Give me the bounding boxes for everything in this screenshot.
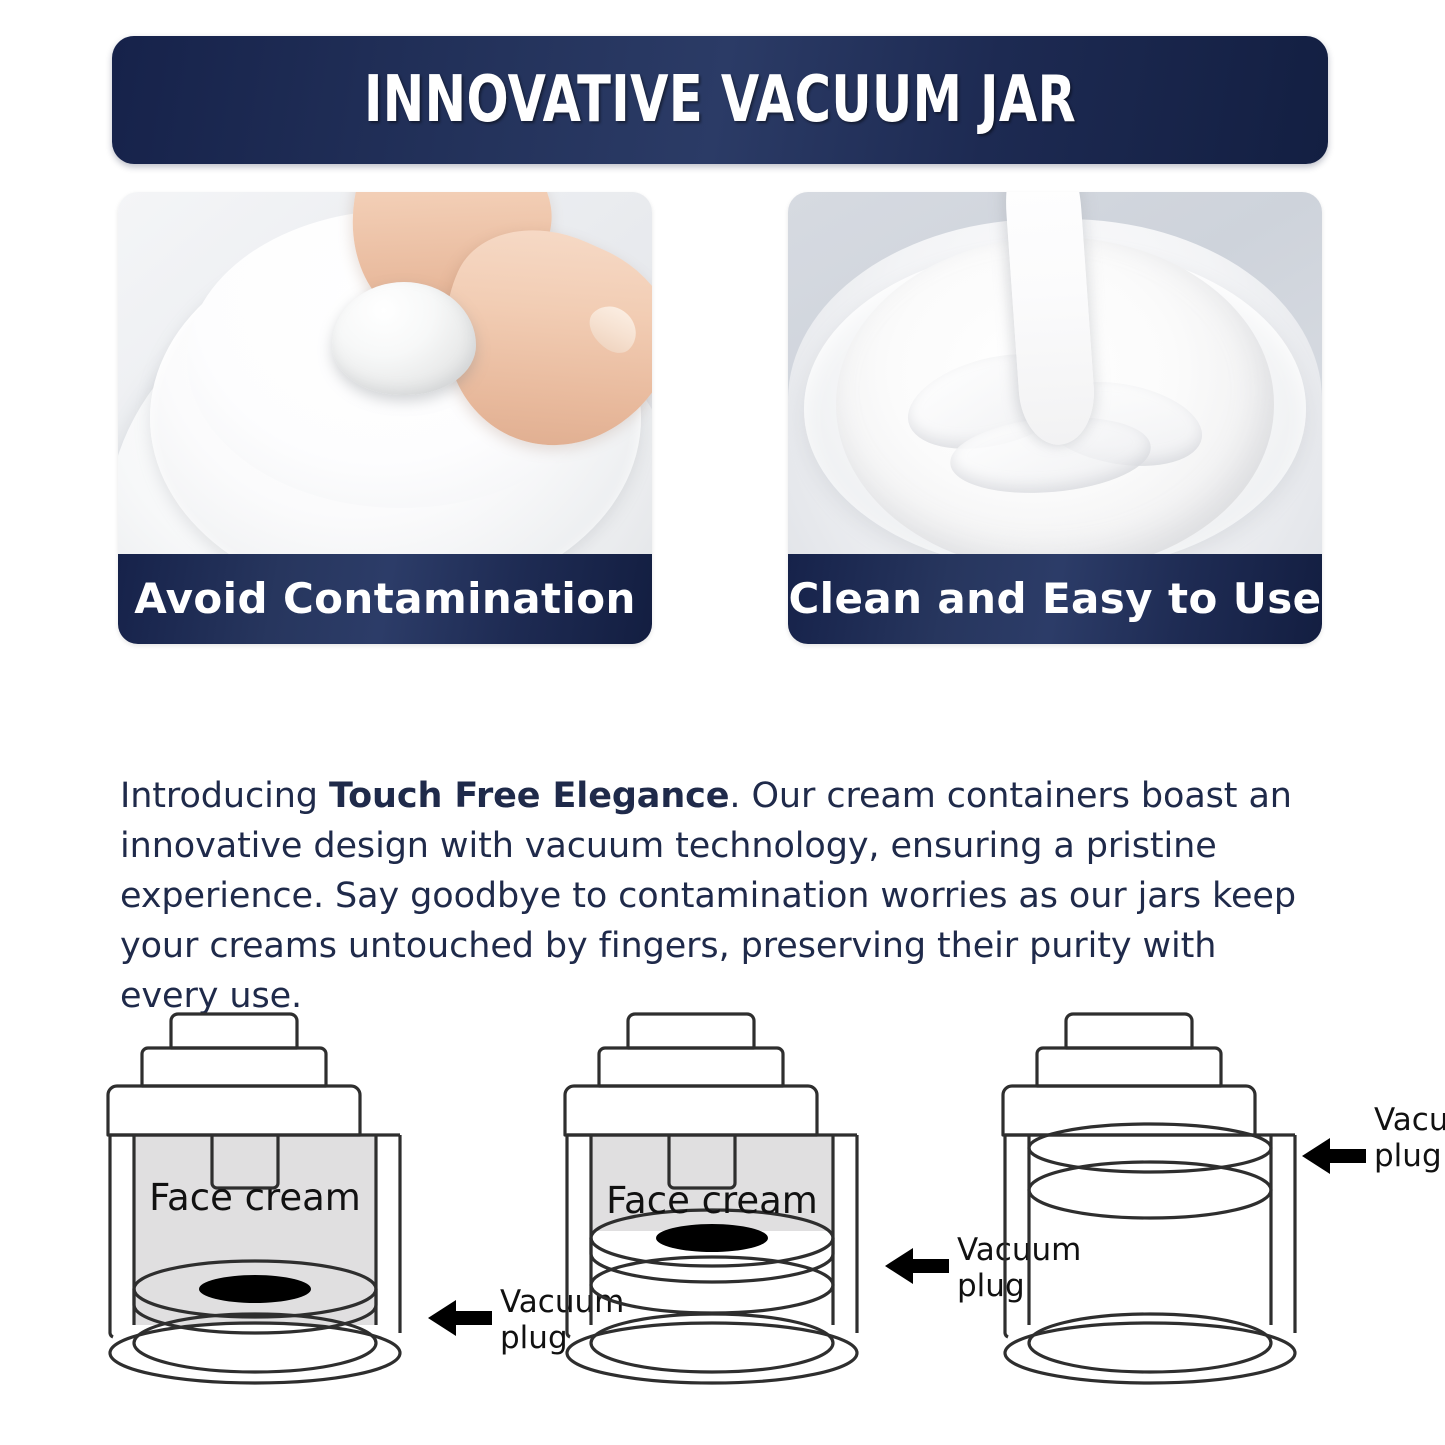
- cream-label-2: Face cream: [606, 1179, 818, 1222]
- jar-lid-body-1: [108, 1086, 360, 1135]
- feature-panels: Avoid Contamination Clean and Easy to Us…: [118, 192, 1322, 644]
- caption-bar-avoid-contamination: Avoid Contamination: [118, 554, 652, 644]
- caption-label: Clean and Easy to Use: [788, 578, 1321, 620]
- cream-label-1: Face cream: [149, 1176, 361, 1219]
- plug-label-line1-1: Vacuum: [500, 1284, 624, 1320]
- panel-clean-and-easy: Clean and Easy to Use: [788, 192, 1322, 644]
- jar-cap-mid-3: [1037, 1048, 1221, 1086]
- paragraph-lead-in: Introducing: [120, 776, 329, 816]
- diagram-jar-full: Face cream Vacuum plug: [108, 1014, 624, 1383]
- vacuum-plug-center-2: [656, 1224, 768, 1252]
- infographic-page: INNOVATIVE VACUUM JAR Avoid Contaminatio…: [0, 0, 1445, 1445]
- jar-base-outer-2: [567, 1323, 857, 1383]
- plug-arrow-icon-1: [428, 1300, 492, 1336]
- fingernail-lower-icon: [582, 297, 645, 361]
- plug-label-line2-3: plug: [1374, 1138, 1442, 1174]
- vacuum-plug-center-1: [199, 1275, 311, 1303]
- diagram-jar-empty: Vacuum plug: [1003, 1014, 1445, 1383]
- plug-label-line1-2: Vacuum: [957, 1232, 1081, 1268]
- jar-cap-mid-2: [599, 1048, 783, 1086]
- caption-label: Avoid Contamination: [134, 578, 636, 620]
- header-banner: INNOVATIVE VACUUM JAR: [112, 36, 1328, 164]
- plug-label-line2-1: plug: [500, 1320, 568, 1356]
- jar-base-outer-3: [1005, 1323, 1295, 1383]
- cream-dollop-shape: [332, 282, 476, 395]
- jar-cap-mid-1: [142, 1048, 326, 1086]
- plug-label-line1-3: Vacuum: [1374, 1102, 1445, 1138]
- panel-avoid-contamination: Avoid Contamination: [118, 192, 652, 644]
- jar-wall-left-1: [110, 1135, 113, 1337]
- vacuum-plug-top-3: [1029, 1124, 1271, 1172]
- jar-cap-top-1: [171, 1014, 297, 1048]
- plug-arrow-icon-3: [1302, 1138, 1366, 1174]
- paragraph-highlight: Touch Free Elegance: [329, 776, 729, 816]
- page-title: INNOVATIVE VACUUM JAR: [364, 68, 1076, 132]
- vacuum-jar-diagram-group: Face cream Vacuum plug: [0, 960, 1445, 1445]
- jar-lid-body-2: [565, 1086, 817, 1135]
- jar-cap-top-3: [1066, 1014, 1192, 1048]
- jar-cap-top-2: [628, 1014, 754, 1048]
- caption-bar-clean-and-easy: Clean and Easy to Use: [788, 554, 1322, 644]
- plug-label-line2-2: plug: [957, 1268, 1025, 1304]
- plug-arrow-icon-2: [885, 1248, 949, 1284]
